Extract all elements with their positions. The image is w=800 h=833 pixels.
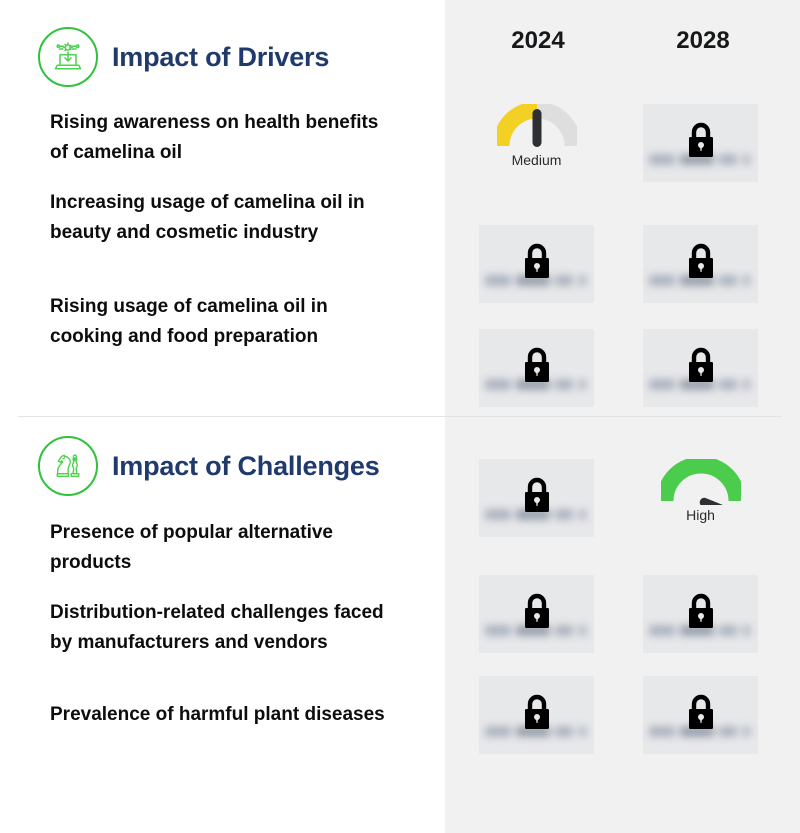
locked-cell-challenges-2-2028[interactable] xyxy=(643,575,758,653)
infographic-root: 2024 2028 Impact of Drivers Rising aware… xyxy=(0,0,800,833)
gauge-label-medium: Medium xyxy=(512,152,562,168)
section-header-drivers: Impact of Drivers xyxy=(38,27,329,87)
gauge-cell-drivers-1-2024[interactable]: Medium xyxy=(479,104,594,182)
column-header-2024: 2024 xyxy=(478,27,598,55)
gauge-label-high: High xyxy=(686,507,715,523)
section-title-drivers: Impact of Drivers xyxy=(112,42,329,73)
padlock-icon xyxy=(684,692,718,734)
padlock-icon xyxy=(520,591,554,633)
locked-cell-drivers-1-2028[interactable] xyxy=(643,104,758,182)
section-title-challenges: Impact of Challenges xyxy=(112,451,380,482)
locked-cell-drivers-3-2028[interactable] xyxy=(643,329,758,407)
padlock-icon xyxy=(684,241,718,283)
locked-cell-challenges-3-2024[interactable] xyxy=(479,676,594,754)
gauge-medium-icon xyxy=(497,104,577,150)
column-header-2028: 2028 xyxy=(643,27,763,55)
section-header-challenges: Impact of Challenges xyxy=(38,436,380,496)
gauge-high-icon xyxy=(661,459,741,505)
locked-cell-drivers-2-2024[interactable] xyxy=(479,225,594,303)
row-label-driver-3: Rising usage of camelina oil in cooking … xyxy=(50,292,395,352)
locked-cell-challenges-2-2024[interactable] xyxy=(479,575,594,653)
row-label-driver-1: Rising awareness on health benefits of c… xyxy=(50,108,395,168)
left-labels-column: Impact of Drivers Rising awareness on he… xyxy=(0,0,445,833)
locked-cell-challenges-3-2028[interactable] xyxy=(643,676,758,754)
locked-cell-drivers-2-2028[interactable] xyxy=(643,225,758,303)
padlock-icon xyxy=(684,591,718,633)
row-label-driver-2: Increasing usage of camelina oil in beau… xyxy=(50,188,395,248)
locked-cell-drivers-3-2024[interactable] xyxy=(479,329,594,407)
padlock-icon xyxy=(520,241,554,283)
laptop-gears-download-icon xyxy=(38,27,98,87)
row-label-challenge-1: Presence of popular alternative products xyxy=(50,518,395,578)
padlock-icon xyxy=(684,120,718,162)
locked-cell-challenges-1-2024[interactable] xyxy=(479,459,594,537)
chess-pieces-icon xyxy=(38,436,98,496)
padlock-icon xyxy=(520,692,554,734)
padlock-icon xyxy=(684,345,718,387)
row-label-challenge-3: Prevalence of harmful plant diseases xyxy=(50,700,395,730)
padlock-icon xyxy=(520,475,554,517)
gauge-cell-challenges-1-2028[interactable]: High xyxy=(643,459,758,537)
row-label-challenge-2: Distribution-related challenges faced by… xyxy=(50,598,395,658)
padlock-icon xyxy=(520,345,554,387)
